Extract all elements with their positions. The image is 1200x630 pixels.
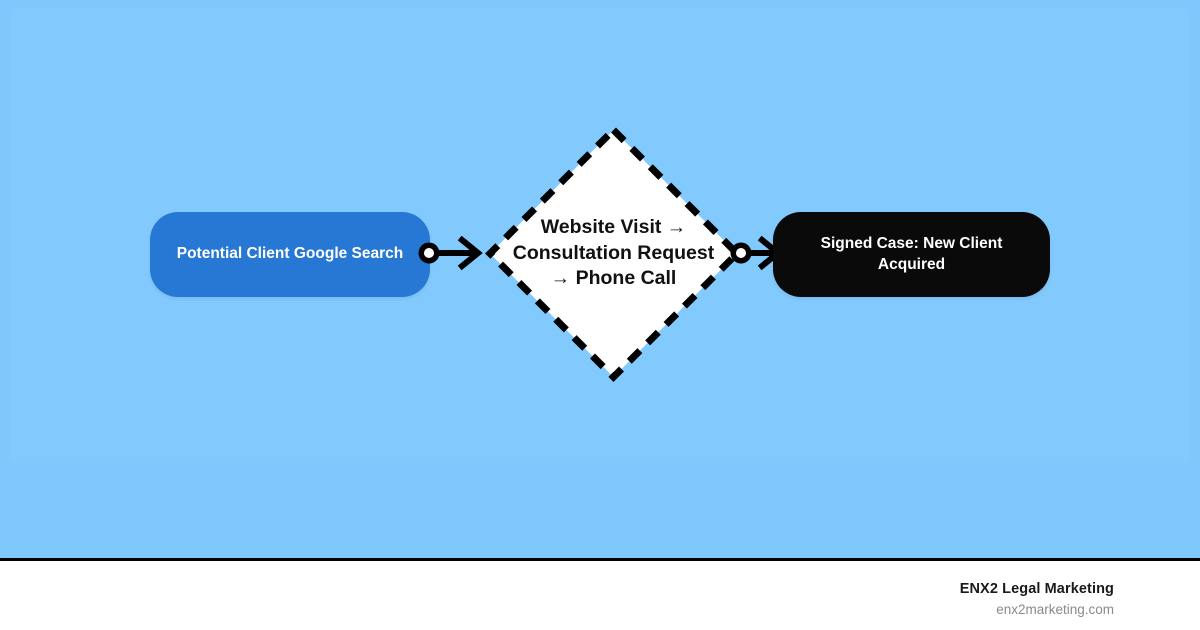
footer-brand-name: ENX2 Legal Marketing [960, 581, 1114, 597]
flow-node-start-label: Potential Client Google Search [177, 244, 404, 265]
diagram-canvas: Potential Client Google Search Website V… [0, 0, 1200, 561]
flow-node-end-label: Signed Case: New Client Acquired [787, 234, 1036, 276]
flow-node-end[interactable]: Signed Case: New Client Acquired [773, 212, 1050, 297]
flow-node-start[interactable]: Potential Client Google Search [150, 212, 430, 297]
footer-bar: ENX2 Legal Marketing enx2marketing.com [0, 564, 1200, 630]
flow-node-decision-label: Website Visit → Consultation Request → P… [510, 124, 717, 383]
footer-website-url[interactable]: enx2marketing.com [996, 602, 1114, 617]
flowchart-infographic: Potential Client Google Search Website V… [0, 0, 1200, 630]
arrow-connector-icon [418, 232, 490, 274]
connector-start-to-decision [418, 232, 490, 274]
flow-node-decision[interactable]: Website Visit → Consultation Request → P… [484, 124, 743, 383]
